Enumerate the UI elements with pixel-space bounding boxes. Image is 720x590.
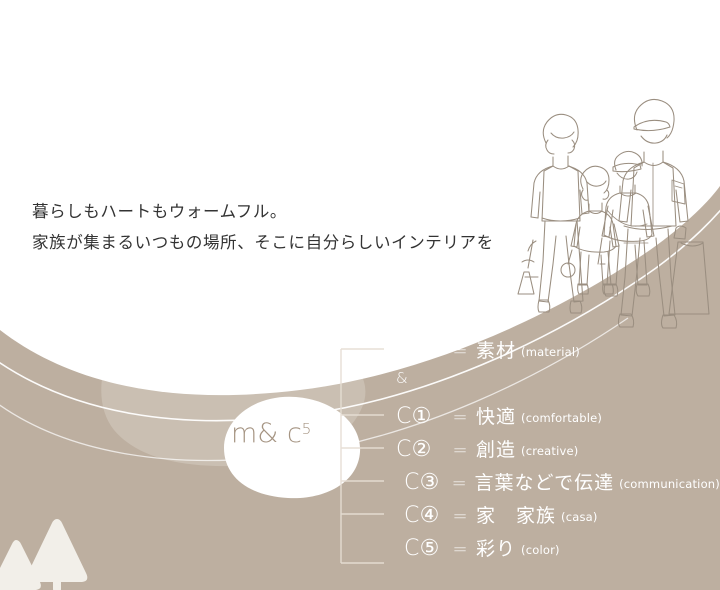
- legend-term-en: (communication): [619, 477, 720, 491]
- tagline: 暮らしもハートもウォームフル。 家族が集まるいつもの場所、そこに自分らしいインテ…: [32, 196, 494, 258]
- badge-wordmark-text: m& c: [231, 418, 302, 449]
- legend-term-ja: 快適: [476, 402, 516, 429]
- legend-key: C③: [396, 470, 448, 495]
- legend-key: C②: [396, 437, 448, 462]
- acronym-legend: m = 素材 (material) & C① = 快適 (comfortable…: [396, 336, 720, 567]
- tree-bl-large-trunk: [53, 578, 61, 590]
- legend-key: &: [396, 369, 448, 387]
- legend-equals: =: [448, 440, 472, 461]
- legend-term-ja: 家 家族: [476, 501, 556, 528]
- brand-wordmark-text: m& c: [68, 26, 233, 99]
- tagline-line-2: 家族が集まるいつもの場所、そこに自分らしいインテリアを: [32, 227, 494, 258]
- poster-canvas: m& c5® 暮らしもハートもウォームフル。 家族が集まるいつもの場所、そこに自…: [0, 0, 720, 590]
- legend-key: C④: [396, 503, 448, 528]
- legend-term-ja: 言葉などで伝達: [474, 468, 614, 495]
- legend-term-ja: 彩り: [476, 534, 516, 561]
- badge-wordmark: m& c5: [231, 420, 311, 447]
- legend-row: &: [396, 369, 720, 402]
- legend-term-en: (material): [521, 345, 580, 359]
- legend-equals: =: [448, 341, 472, 362]
- legend-term-en: (casa): [561, 510, 598, 524]
- legend-row: m = 素材 (material): [396, 336, 720, 369]
- legend-term-en: (comfortable): [521, 411, 602, 425]
- legend-row: C① = 快適 (comfortable): [396, 402, 720, 435]
- legend-equals: =: [448, 407, 472, 428]
- legend-term-en: (color): [521, 543, 560, 557]
- legend-key: C⑤: [396, 536, 448, 561]
- legend-term-en: (creative): [521, 444, 578, 458]
- legend-key: m: [396, 338, 448, 363]
- tagline-line-1: 暮らしもハートもウォームフル。: [32, 196, 494, 227]
- badge-superscript: 5: [302, 420, 312, 438]
- legend-term-ja: 素材: [476, 336, 516, 363]
- registered-trademark-icon: ®: [257, 56, 273, 74]
- legend-row: C② = 創造 (creative): [396, 435, 720, 468]
- legend-row: C⑤ = 彩り (color): [396, 534, 720, 567]
- legend-row: C③ = 言葉などで伝達 (communication): [396, 468, 720, 501]
- legend-equals: =: [448, 539, 472, 560]
- legend-term-ja: 創造: [476, 435, 516, 462]
- legend-key: C①: [396, 404, 448, 429]
- brand-superscript: 5: [233, 50, 255, 90]
- brand-wordmark: m& c5®: [68, 32, 270, 94]
- legend-equals: =: [448, 473, 470, 494]
- legend-row: C④ = 家 家族 (casa): [396, 501, 720, 534]
- legend-equals: =: [448, 506, 472, 527]
